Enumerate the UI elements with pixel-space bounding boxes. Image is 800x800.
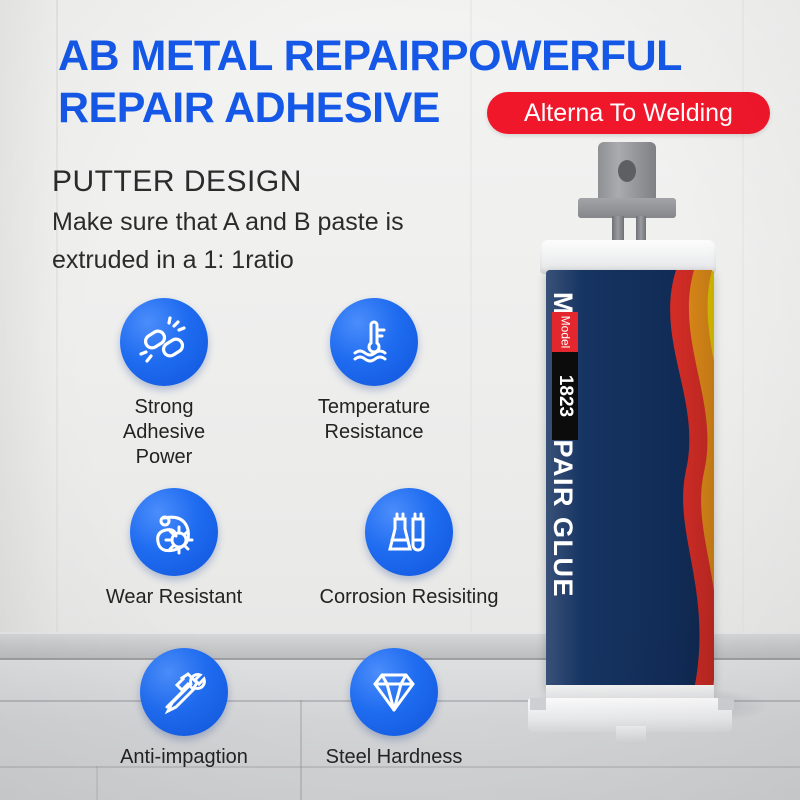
feature-list: Strong Adhesive Power Temperature Resist… [0, 0, 520, 800]
model-number-box: 1823 [552, 352, 578, 440]
model-badge: Model 1823 [552, 312, 578, 442]
cartridge-nozzle [616, 726, 646, 744]
handle-hole [618, 160, 636, 182]
model-label: Model [558, 316, 572, 349]
diamond-icon [350, 648, 438, 736]
flasks-chemistry-icon [365, 488, 453, 576]
base-notch-right [718, 698, 734, 710]
base-notch-left [530, 698, 546, 710]
list-item: Steel Hardness [314, 648, 474, 770]
list-item: Anti-impagtion [104, 648, 264, 770]
product-infographic: AB METAL REPAIRPOWERFUL REPAIR ADHESIVE … [0, 0, 800, 800]
list-item: Corrosion Resisiting [314, 488, 504, 610]
list-item-label: Temperature Resistance [314, 395, 434, 445]
list-item-label: Strong Adhesive Power [104, 395, 224, 470]
cartridge-cap [540, 240, 716, 274]
model-label-box: Model [552, 312, 578, 352]
status-badge: Alterna To Welding [487, 92, 770, 134]
list-item-label: Corrosion Resisiting [314, 585, 504, 610]
list-item-label: Anti-impagtion [104, 745, 264, 770]
list-item: Strong Adhesive Power [104, 298, 224, 470]
model-number: 1823 [554, 375, 576, 417]
handle-plate [578, 198, 676, 218]
belt-pulley-gear-icon [130, 488, 218, 576]
list-item-label: Steel Hardness [314, 745, 474, 770]
hammer-wrench-icon [140, 648, 228, 736]
broken-chain-link-icon [120, 298, 208, 386]
list-item: Temperature Resistance [314, 298, 434, 445]
thermometer-water-icon [330, 298, 418, 386]
list-item-label: Wear Resistant [104, 585, 244, 610]
badge-label: Alterna To Welding [524, 99, 733, 128]
list-item: Wear Resistant [104, 488, 244, 610]
product-image: METAL REPAIR GLUE Model 1823 [500, 140, 800, 760]
